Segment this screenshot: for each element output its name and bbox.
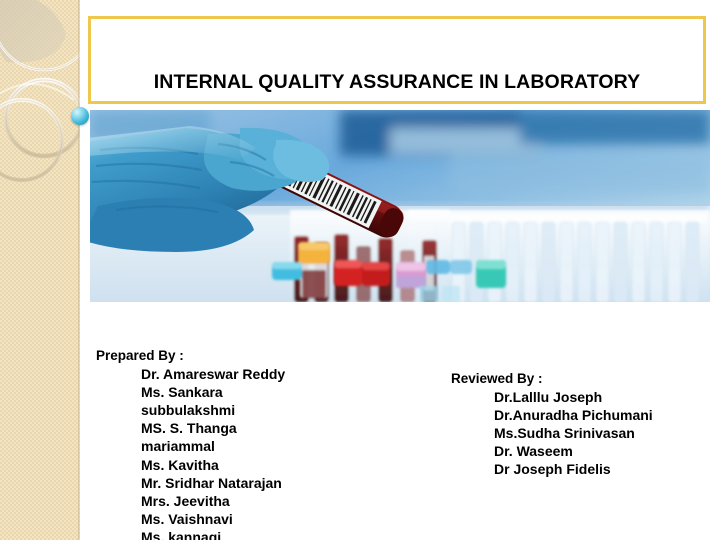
accent-sphere-icon: [71, 107, 89, 125]
reviewed-by-list: Dr.Lalllu Joseph Dr.Anuradha Pichumani M…: [451, 388, 716, 478]
list-item: Ms. Sankara: [141, 383, 346, 401]
presentation-slide: INTERNAL QUALITY ASSURANCE IN LABORATORY: [0, 0, 720, 540]
laboratory-photo-graphic: [90, 110, 710, 302]
list-item: Ms.Sudha Srinivasan: [494, 424, 716, 442]
list-item: Dr Joseph Fidelis: [494, 460, 716, 478]
prepared-by-heading: Prepared By :: [96, 347, 346, 364]
sidebar-ornament-graphic: [0, 0, 80, 540]
list-item: MS. S. Thanga: [141, 419, 346, 437]
laboratory-photo: [90, 110, 710, 302]
list-item: mariammal: [141, 437, 346, 455]
prepared-by-block: Prepared By : Dr. Amareswar Reddy Ms. Sa…: [96, 347, 346, 540]
list-item: subbulakshmi: [141, 401, 346, 419]
reviewed-by-heading: Reviewed By :: [451, 370, 716, 387]
reviewed-by-block: Reviewed By : Dr.Lalllu Joseph Dr.Anurad…: [451, 370, 716, 479]
decorative-sidebar: [0, 0, 80, 540]
page-title: INTERNAL QUALITY ASSURANCE IN LABORATORY: [154, 72, 640, 93]
list-item: Mrs. Jeevitha: [141, 492, 346, 510]
list-item: Dr. Waseem: [494, 442, 716, 460]
title-placeholder: INTERNAL QUALITY ASSURANCE IN LABORATORY: [88, 16, 706, 104]
list-item: Ms. kannagi: [141, 528, 346, 540]
sidebar-divider: [78, 0, 80, 540]
prepared-by-list: Dr. Amareswar Reddy Ms. Sankara subbulak…: [96, 365, 346, 540]
list-item: Ms. Vaishnavi: [141, 510, 346, 528]
list-item: Ms. Kavitha: [141, 456, 346, 474]
list-item: Mr. Sridhar Natarajan: [141, 474, 346, 492]
list-item: Dr.Anuradha Pichumani: [494, 406, 716, 424]
list-item: Dr. Amareswar Reddy: [141, 365, 346, 383]
list-item: Dr.Lalllu Joseph: [494, 388, 716, 406]
